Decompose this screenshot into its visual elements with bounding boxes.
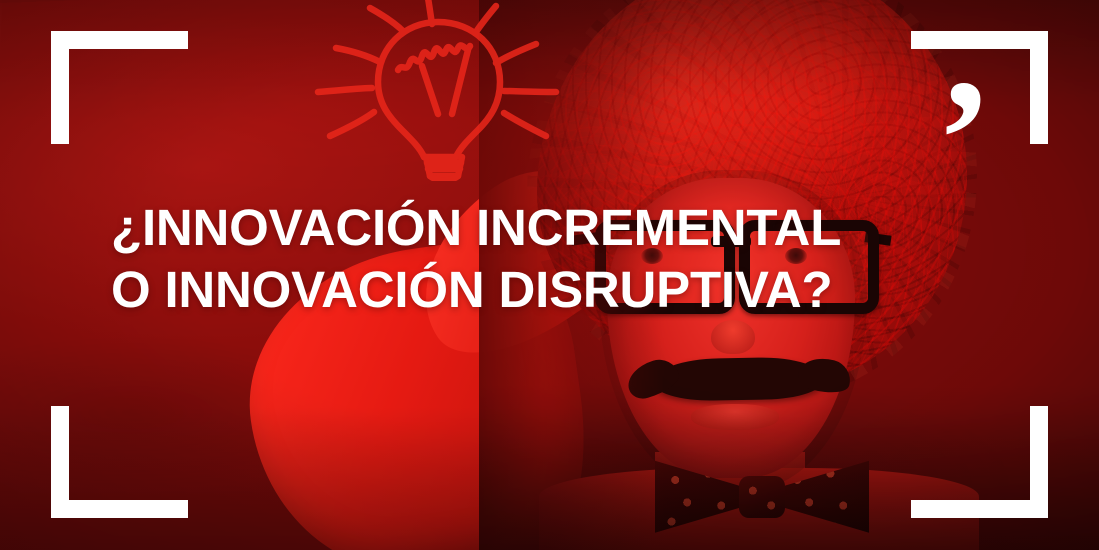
closing-quote-mark: ’ [936, 78, 993, 200]
lightbulb-icon [300, 0, 570, 181]
innovation-banner: ’ ¿INNOVACIÓN INCREMENTAL O INNOVACIÓN D… [0, 0, 1099, 550]
page-title: ¿INNOVACIÓN INCREMENTAL O INNOVACIÓN DIS… [111, 197, 931, 321]
